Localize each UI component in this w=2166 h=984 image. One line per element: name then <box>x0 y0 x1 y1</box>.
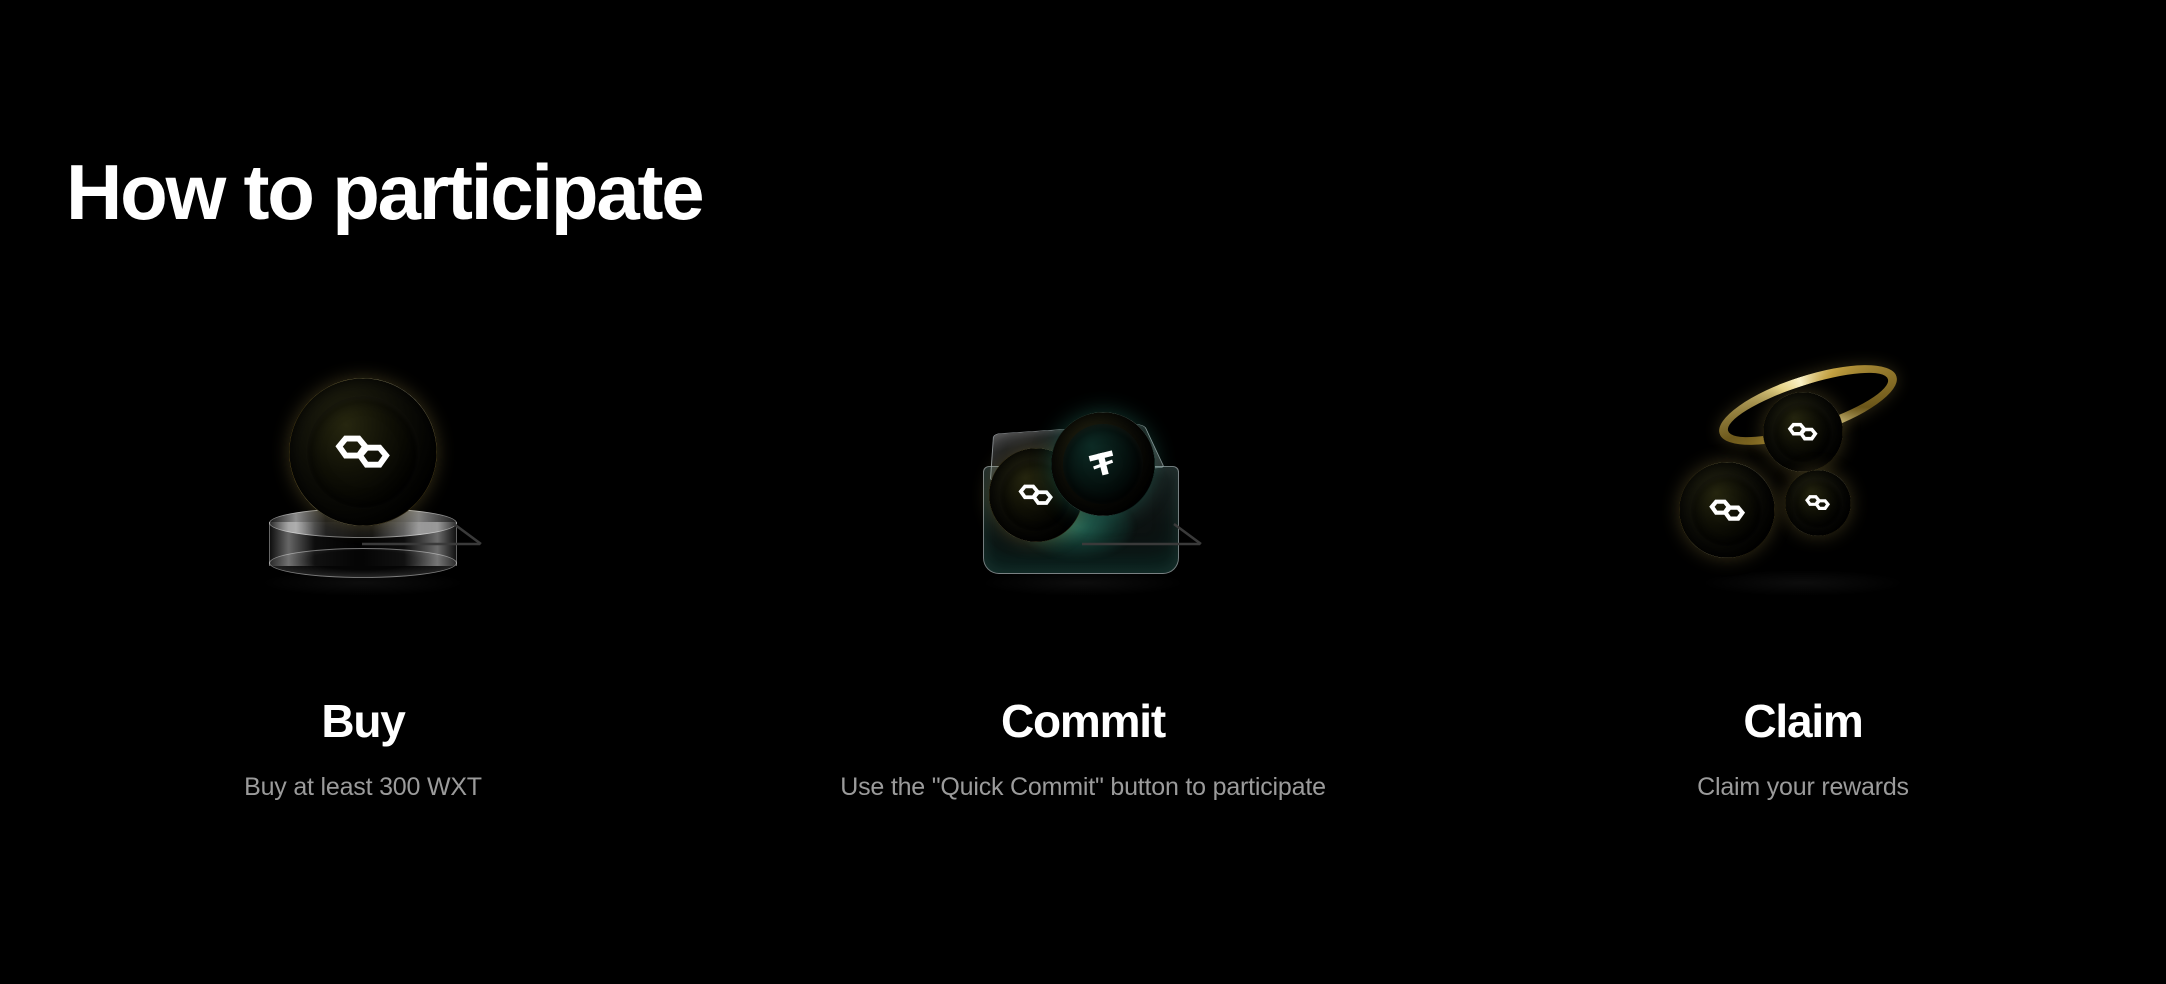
step-claim: Claim Claim your rewards <box>1443 370 2163 802</box>
step-title-buy: Buy <box>321 698 404 744</box>
claim-illustration <box>1653 370 1953 590</box>
wxt-logo-icon <box>1015 474 1056 515</box>
usdt-logo-icon <box>1080 441 1126 487</box>
wxt-logo-icon <box>1803 488 1832 517</box>
step-title-commit: Commit <box>1001 698 1165 744</box>
page-title: How to participate <box>66 152 702 234</box>
step-commit: Commit Use the "Quick Commit" button to … <box>723 370 1443 802</box>
wxt-logo-icon <box>330 419 395 484</box>
step-caption-commit: Use the "Quick Commit" button to partici… <box>840 772 1326 802</box>
wxt-logo-icon <box>1706 489 1748 531</box>
buy-illustration <box>213 370 513 590</box>
step-caption-buy: Buy at least 300 WXT <box>244 772 482 802</box>
floor-shadow <box>1703 570 1903 596</box>
steps-row: Buy Buy at least 300 WXT <box>0 370 2166 870</box>
step-buy: Buy Buy at least 300 WXT <box>3 370 723 802</box>
step-caption-claim: Claim your rewards <box>1697 772 1909 802</box>
wxt-logo-icon <box>1785 414 1820 449</box>
how-to-participate-section: How to participate <box>0 0 2166 984</box>
usdt-coin-icon <box>1051 412 1155 516</box>
step-title-claim: Claim <box>1743 698 1862 744</box>
commit-illustration <box>933 370 1233 590</box>
wxt-coin-icon <box>289 378 437 526</box>
wxt-coin-icon <box>1785 470 1851 536</box>
wxt-coin-icon <box>1763 392 1843 472</box>
wxt-coin-icon <box>1679 462 1775 558</box>
